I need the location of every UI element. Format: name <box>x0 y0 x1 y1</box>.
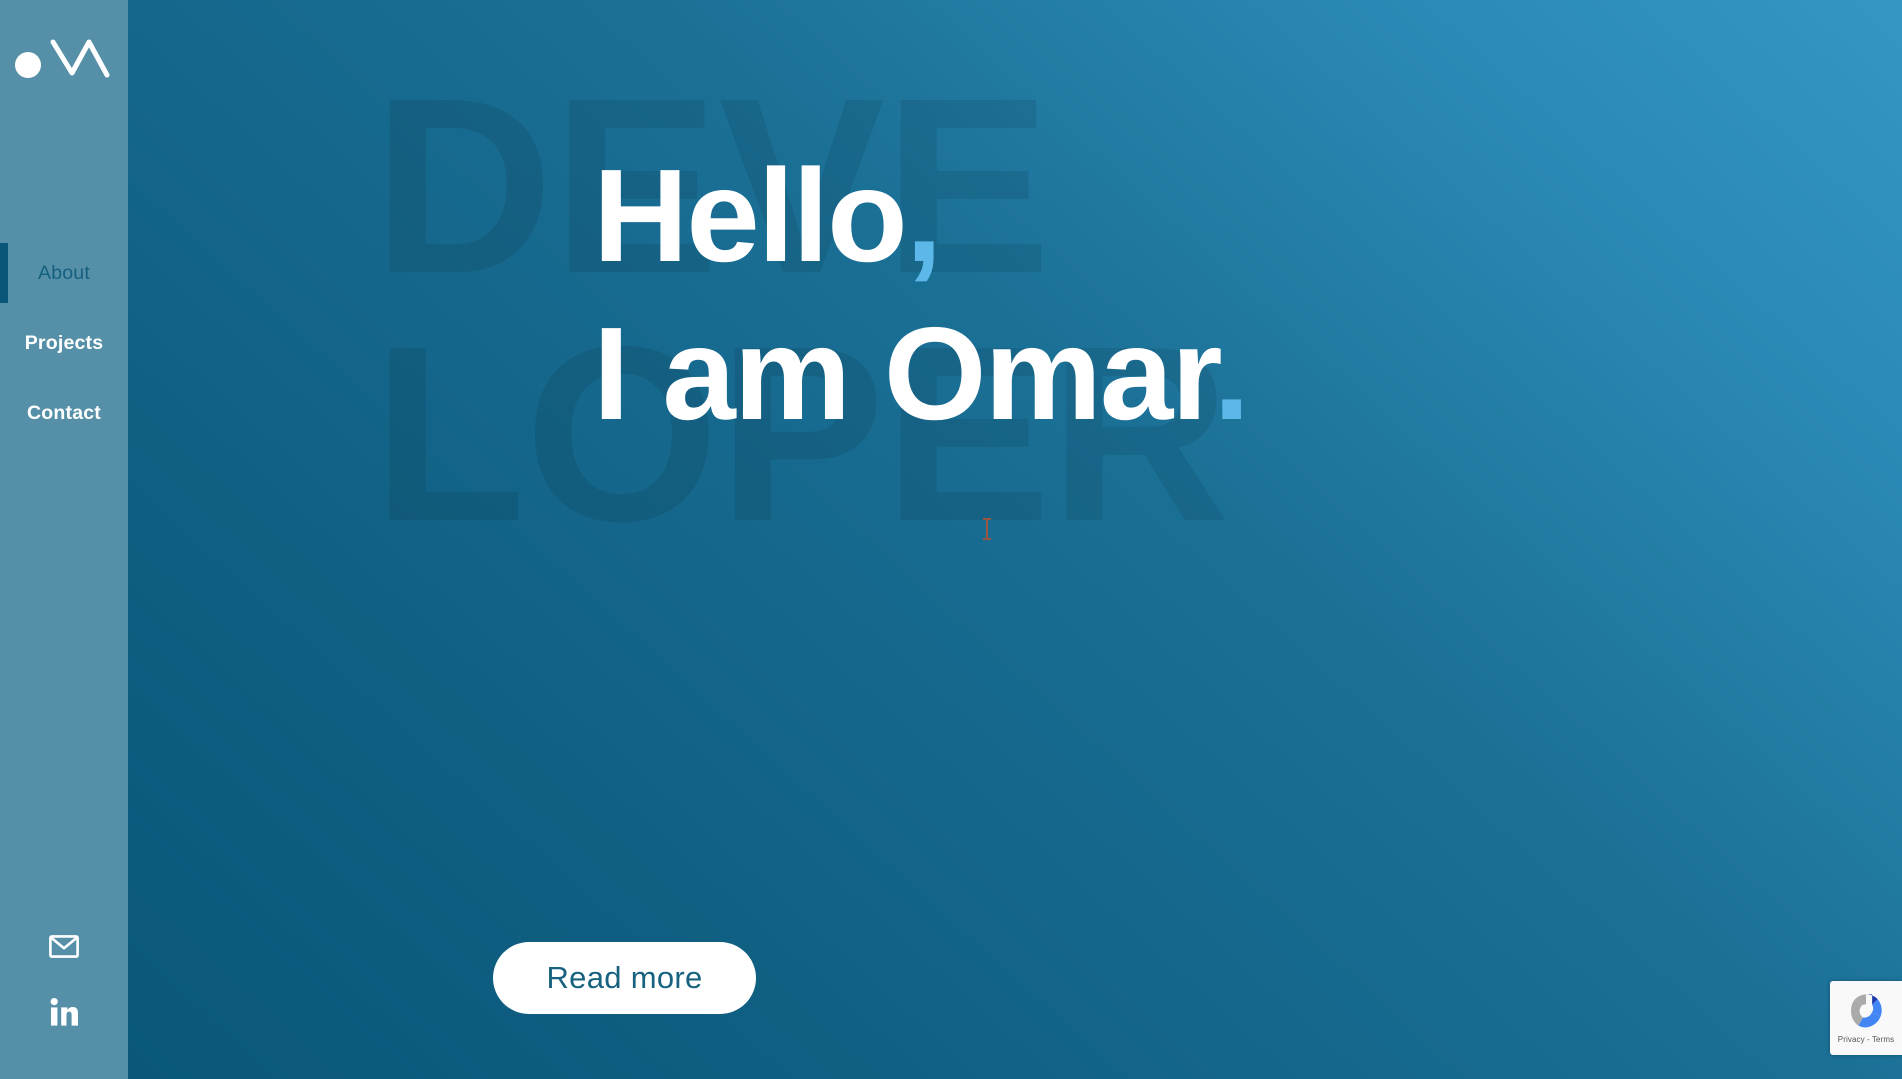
hero-accent-period: . <box>1213 300 1248 447</box>
hero-line-2: I am Omar. <box>593 308 1248 440</box>
hero-line-1: Hello, <box>593 142 940 289</box>
hero-name: I am Omar <box>593 300 1213 447</box>
sidebar-item-label: Contact <box>27 402 101 425</box>
recaptcha-icon <box>1845 989 1887 1031</box>
email-icon[interactable] <box>47 929 81 963</box>
logo-icon <box>14 24 110 92</box>
sidebar-item-projects[interactable]: Projects <box>0 308 128 378</box>
main-hero-section: DEVELOPER Hello, I am Omar. Read more Pr… <box>128 0 1902 1079</box>
sidebar-item-label: About <box>38 262 90 285</box>
hero-greeting: Hello <box>593 142 906 289</box>
sidebar-item-contact[interactable]: Contact <box>0 378 128 448</box>
read-more-button[interactable]: Read more <box>493 942 756 1014</box>
linkedin-glyph <box>50 998 78 1026</box>
sidebar-item-label: Projects <box>25 332 104 355</box>
hero-accent-comma: , <box>906 142 941 289</box>
social-links <box>0 929 128 1029</box>
sidebar: About Projects Contact <box>0 0 128 1079</box>
text-cursor-artifact <box>986 518 988 540</box>
recaptcha-privacy-terms[interactable]: Privacy - Terms <box>1838 1035 1894 1044</box>
page-title: Hello, I am Omar. <box>593 150 1248 440</box>
recaptcha-badge[interactable]: Privacy - Terms <box>1830 981 1902 1055</box>
sidebar-item-about[interactable]: About <box>0 238 128 308</box>
linkedin-icon[interactable] <box>47 995 81 1029</box>
omar-monogram-logo[interactable] <box>14 24 110 92</box>
sidebar-nav: About Projects Contact <box>0 238 128 448</box>
email-glyph <box>49 935 79 958</box>
active-indicator-bar <box>0 243 8 303</box>
